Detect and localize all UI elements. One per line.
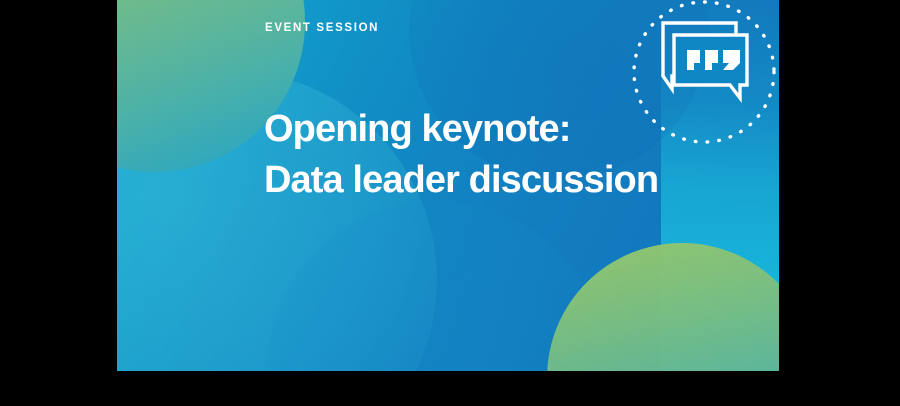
decorative-green-circle-bottom-right: [547, 243, 779, 371]
page-title-line-2: Data leader discussion: [264, 155, 658, 206]
eyebrow-label: EVENT SESSION: [265, 21, 379, 35]
page-title-line-1: Opening keynote:: [264, 104, 658, 155]
screenshot-stage: EVENT SESSION Opening keynote: Data lead…: [0, 0, 900, 406]
event-session-card[interactable]: EVENT SESSION Opening keynote: Data lead…: [117, 0, 779, 371]
page-title: Opening keynote: Data leader discussion: [264, 104, 658, 206]
speech-bubbles-quote-icon: [624, 0, 779, 152]
